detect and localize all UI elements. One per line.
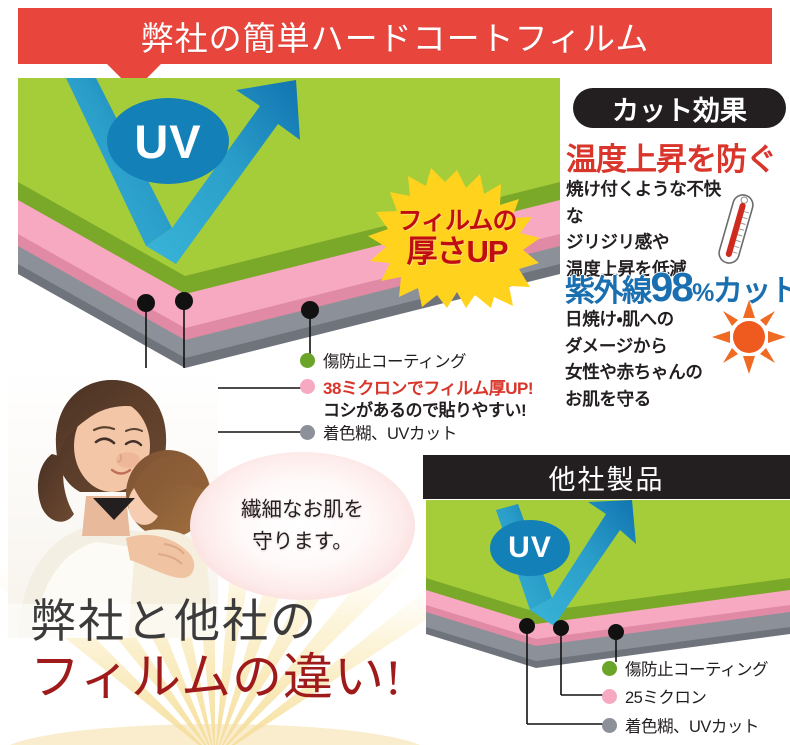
- uv-cut-prefix: 紫外線: [565, 275, 651, 308]
- starburst-label: フィルムの 厚さUP: [368, 168, 546, 308]
- legend-label-easy-apply: コシがあるので貼りやすい!: [323, 396, 526, 421]
- other-legend-item-25micron: 25ミクロン: [602, 684, 706, 708]
- other-legend-label-coating: 傷防止コーティング: [625, 656, 768, 680]
- other-legend-dot-pink: [602, 689, 617, 704]
- uv-cut-value: 98: [651, 264, 693, 310]
- other-legend-item-coating: 傷防止コーティング: [602, 656, 768, 680]
- bottom-headline-line2: フィルムの違い!: [30, 651, 430, 704]
- main-title-text: 弊社の簡単ハードコートフィルム: [141, 12, 650, 60]
- cut-effect-body-line1: 焼け付くような不快な: [566, 176, 726, 229]
- uv-cut-body-line3: 女性や赤ちゃんの: [565, 359, 730, 386]
- bubble-line2: 守ります。: [252, 526, 352, 558]
- sun-icon: [712, 300, 786, 374]
- other-company-banner: 他社製品: [423, 455, 790, 499]
- other-legend-label-25micron: 25ミクロン: [625, 684, 706, 708]
- main-title-banner: 弊社の簡単ハードコートフィルム: [18, 8, 772, 64]
- legend-dot-pink: [300, 379, 315, 394]
- legend-dot-gray: [300, 425, 315, 440]
- other-legend-dot-green: [602, 661, 617, 676]
- legend-dot-green: [300, 353, 315, 368]
- skin-protect-bubble-text: 繊細なお肌を 守ります。: [190, 452, 415, 600]
- cut-effect-heading: 温度上昇を防ぐ: [566, 134, 790, 179]
- legend-label-coating: 傷防止コーティング: [323, 348, 466, 372]
- other-company-legend: 傷防止コーティング 25ミクロン 着色糊、UVカット: [602, 652, 790, 734]
- bottom-headline-line1: 弊社と他社の: [30, 596, 318, 647]
- other-legend-label-adhesive: 着色糊、UVカット: [625, 713, 759, 737]
- legend-item-easy-apply: コシがあるので貼りやすい!: [323, 396, 526, 421]
- main-legend: 傷防止コーティング 38ミクロンでフィルム厚UP! コシがあるので貼りやすい! …: [300, 344, 560, 444]
- uv-badge-main: UV: [107, 98, 229, 184]
- uv-cut-body-line4: お肌を守る: [565, 386, 730, 413]
- cut-effect-pill: カット効果: [573, 88, 786, 128]
- thickness-up-starburst: フィルムの 厚さUP: [368, 168, 546, 308]
- uv-cut-body-line1: 日焼け・肌への: [565, 306, 730, 333]
- other-legend-dot-gray: [602, 718, 617, 733]
- bubble-line1: 繊細なお肌を: [241, 494, 364, 526]
- uv-cut-body-line2: ダメージから: [565, 333, 730, 360]
- starburst-line2: 厚さUP: [406, 236, 507, 268]
- other-company-banner-pointer: [93, 498, 135, 520]
- uv-cut-body: 日焼け・肌への ダメージから 女性や赤ちゃんの お肌を守る: [565, 306, 730, 412]
- other-company-title: 他社製品: [549, 458, 665, 497]
- bottom-headline: 弊社と他社の フィルムの違い!: [30, 598, 430, 704]
- uv-label-main: UV: [134, 114, 201, 169]
- uv-badge-other: UV: [490, 520, 570, 576]
- uv-cut-unit: %: [692, 279, 713, 307]
- infographic-root: 弊社の簡単ハードコートフィルム: [0, 0, 790, 745]
- uv-label-other: UV: [508, 531, 552, 565]
- legend-label-adhesive: 着色糊、UVカット: [323, 420, 457, 444]
- legend-item-coating: 傷防止コーティング: [300, 348, 466, 372]
- cut-effect-body-line2: ジリジリ感や: [566, 229, 726, 256]
- starburst-line1: フィルムの: [397, 208, 516, 234]
- legend-item-adhesive: 着色糊、UVカット: [300, 420, 457, 444]
- cut-effect-pill-label: カット効果: [612, 89, 747, 128]
- other-legend-item-adhesive: 着色糊、UVカット: [602, 713, 759, 737]
- thermometer-icon: [714, 190, 758, 268]
